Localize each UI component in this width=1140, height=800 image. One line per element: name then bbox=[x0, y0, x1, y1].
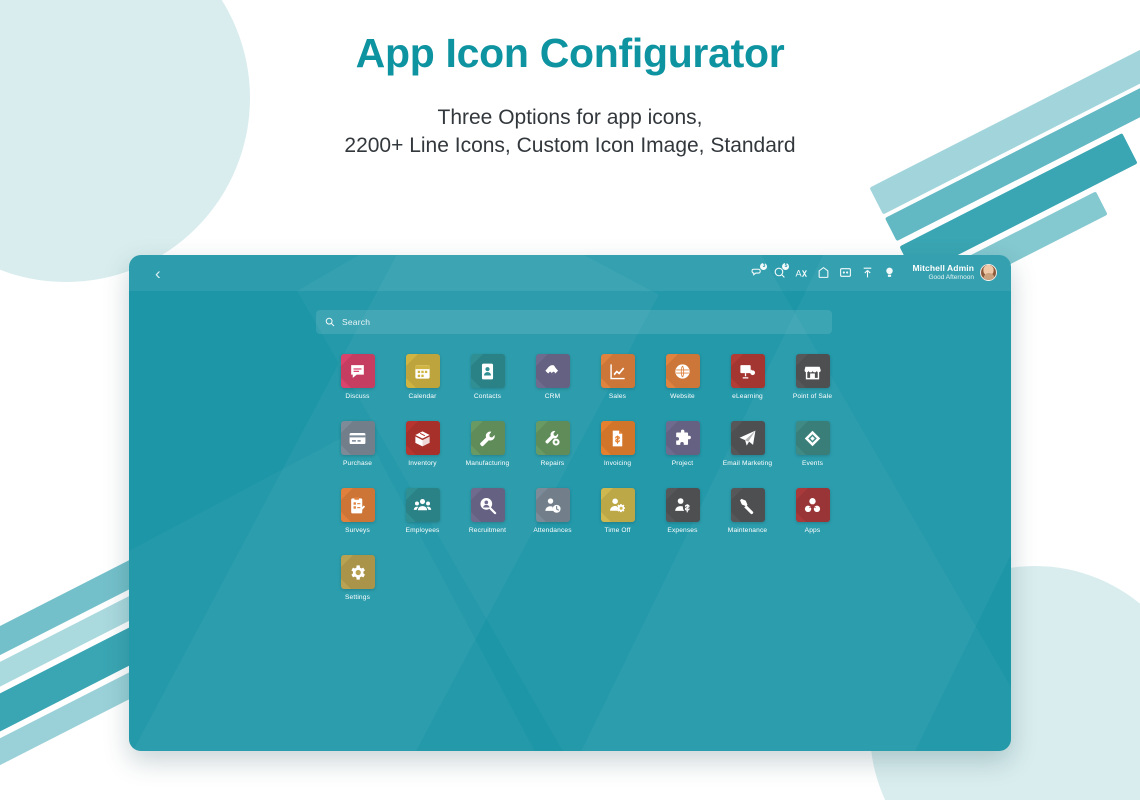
app-label: Maintenance bbox=[728, 527, 767, 534]
app-label: Apps bbox=[805, 527, 821, 534]
chart-growth-icon[interactable] bbox=[601, 354, 635, 388]
user-greeting: Good Afternoon bbox=[912, 274, 974, 281]
search-input[interactable]: Search bbox=[316, 310, 832, 334]
app-item-recruitment[interactable]: Recruitment bbox=[455, 488, 520, 534]
app-label: Sales bbox=[609, 393, 626, 400]
activities-icon[interactable]: 5 bbox=[773, 266, 786, 279]
globe-pin-icon[interactable] bbox=[666, 354, 700, 388]
page-subtitle: Three Options for app icons, 2200+ Line … bbox=[0, 104, 1140, 160]
app-item-employees[interactable]: Employees bbox=[390, 488, 455, 534]
app-label: Calendar bbox=[409, 393, 437, 400]
activities-badge: 5 bbox=[782, 263, 789, 270]
clipboard-check-icon[interactable] bbox=[341, 488, 375, 522]
page-subtitle-line-1: Three Options for app icons, bbox=[0, 104, 1140, 132]
app-item-website[interactable]: Website bbox=[650, 354, 715, 400]
app-label: Attendances bbox=[533, 527, 571, 534]
presentation-icon[interactable] bbox=[731, 354, 765, 388]
share-icon[interactable] bbox=[861, 266, 874, 279]
open-box-icon[interactable] bbox=[406, 421, 440, 455]
messages-badge: 3 bbox=[760, 263, 767, 270]
chat-bubble-icon[interactable] bbox=[341, 354, 375, 388]
app-item-invoicing[interactable]: Invoicing bbox=[585, 421, 650, 467]
app-item-contacts[interactable]: Contacts bbox=[455, 354, 520, 400]
back-chevron-icon[interactable]: ‹ bbox=[155, 265, 161, 282]
app-label: eLearning bbox=[732, 393, 763, 400]
person-clock-icon[interactable] bbox=[536, 488, 570, 522]
app-label: Website bbox=[670, 393, 695, 400]
user-text: Mitchell Admin Good Afternoon bbox=[912, 264, 974, 281]
app-item-crm[interactable]: CRM bbox=[520, 354, 585, 400]
app-label: Email Marketing bbox=[723, 460, 773, 467]
app-item-time-off[interactable]: Time Off bbox=[585, 488, 650, 534]
app-label: Contacts bbox=[474, 393, 501, 400]
app-item-maintenance[interactable]: Maintenance bbox=[715, 488, 780, 534]
app-item-project[interactable]: Project bbox=[650, 421, 715, 467]
puzzle-piece-icon[interactable] bbox=[666, 421, 700, 455]
app-item-expenses[interactable]: Expenses bbox=[650, 488, 715, 534]
invoice-dollar-icon[interactable] bbox=[601, 421, 635, 455]
app-label: Manufacturing bbox=[466, 460, 510, 467]
person-gear-icon[interactable] bbox=[601, 488, 635, 522]
handshake-icon[interactable] bbox=[536, 354, 570, 388]
app-item-calendar[interactable]: Calendar bbox=[390, 354, 455, 400]
storefront-icon[interactable] bbox=[796, 354, 830, 388]
app-item-discuss[interactable]: Discuss bbox=[325, 354, 390, 400]
wrench-gear-icon[interactable] bbox=[536, 421, 570, 455]
svg-text:A: A bbox=[796, 269, 803, 279]
gear-icon[interactable] bbox=[341, 555, 375, 589]
app-label: Inventory bbox=[408, 460, 436, 467]
contact-card-icon[interactable] bbox=[471, 354, 505, 388]
hammer-icon[interactable] bbox=[731, 488, 765, 522]
translate-icon[interactable]: A bbox=[795, 266, 808, 279]
page-title: App Icon Configurator bbox=[0, 30, 1140, 77]
lightbulb-icon[interactable] bbox=[883, 266, 896, 279]
systray: 3 5 A bbox=[751, 264, 997, 281]
apps-grid-icon[interactable] bbox=[839, 266, 852, 279]
app-item-manufacturing[interactable]: Manufacturing bbox=[455, 421, 520, 467]
app-label: Invoicing bbox=[604, 460, 631, 467]
wrench-icon[interactable] bbox=[471, 421, 505, 455]
app-grid: DiscussCalendarContactsCRMSalesWebsiteeL… bbox=[325, 354, 845, 601]
app-item-purchase[interactable]: Purchase bbox=[325, 421, 390, 467]
app-item-sales[interactable]: Sales bbox=[585, 354, 650, 400]
app-label: Project bbox=[672, 460, 694, 467]
credit-card-icon[interactable] bbox=[341, 421, 375, 455]
app-item-surveys[interactable]: Surveys bbox=[325, 488, 390, 534]
app-label: Point of Sale bbox=[793, 393, 832, 400]
calendar-icon[interactable] bbox=[406, 354, 440, 388]
app-label: Employees bbox=[406, 527, 440, 534]
app-label: Repairs bbox=[541, 460, 565, 467]
user-menu[interactable]: Mitchell Admin Good Afternoon bbox=[912, 264, 997, 281]
avatar[interactable] bbox=[980, 264, 997, 281]
app-item-repairs[interactable]: Repairs bbox=[520, 421, 585, 467]
app-label: Time Off bbox=[604, 527, 630, 534]
messages-icon[interactable]: 3 bbox=[751, 266, 764, 279]
app-label: Expenses bbox=[667, 527, 697, 534]
app-label: Surveys bbox=[345, 527, 370, 534]
app-item-apps[interactable]: Apps bbox=[780, 488, 845, 534]
page-root: App Icon Configurator Three Options for … bbox=[0, 0, 1140, 800]
app-label: CRM bbox=[545, 393, 560, 400]
app-label: Events bbox=[802, 460, 823, 467]
app-item-attendances[interactable]: Attendances bbox=[520, 488, 585, 534]
app-label: Discuss bbox=[345, 393, 369, 400]
app-item-point-of-sale[interactable]: Point of Sale bbox=[780, 354, 845, 400]
ticket-diamond-icon[interactable] bbox=[796, 421, 830, 455]
search-icon bbox=[325, 317, 335, 327]
app-item-settings[interactable]: Settings bbox=[325, 555, 390, 601]
magnifier-person-icon[interactable] bbox=[471, 488, 505, 522]
paper-plane-icon[interactable] bbox=[731, 421, 765, 455]
app-label: Settings bbox=[345, 594, 370, 601]
window-topbar: ‹ 3 5 A bbox=[129, 255, 1011, 291]
app-item-email-marketing[interactable]: Email Marketing bbox=[715, 421, 780, 467]
blocks-icon[interactable] bbox=[796, 488, 830, 522]
search-placeholder: Search bbox=[342, 317, 370, 327]
app-label: Purchase bbox=[343, 460, 372, 467]
app-launcher-window: ‹ 3 5 A bbox=[129, 255, 1011, 751]
page-subtitle-line-2: 2200+ Line Icons, Custom Icon Image, Sta… bbox=[0, 132, 1140, 160]
app-item-elearning[interactable]: eLearning bbox=[715, 354, 780, 400]
user-name: Mitchell Admin bbox=[912, 264, 974, 274]
people-group-icon[interactable] bbox=[406, 488, 440, 522]
app-item-events[interactable]: Events bbox=[780, 421, 845, 467]
app-item-inventory[interactable]: Inventory bbox=[390, 421, 455, 467]
company-icon[interactable] bbox=[817, 266, 830, 279]
person-dollar-icon[interactable] bbox=[666, 488, 700, 522]
app-label: Recruitment bbox=[469, 527, 506, 534]
